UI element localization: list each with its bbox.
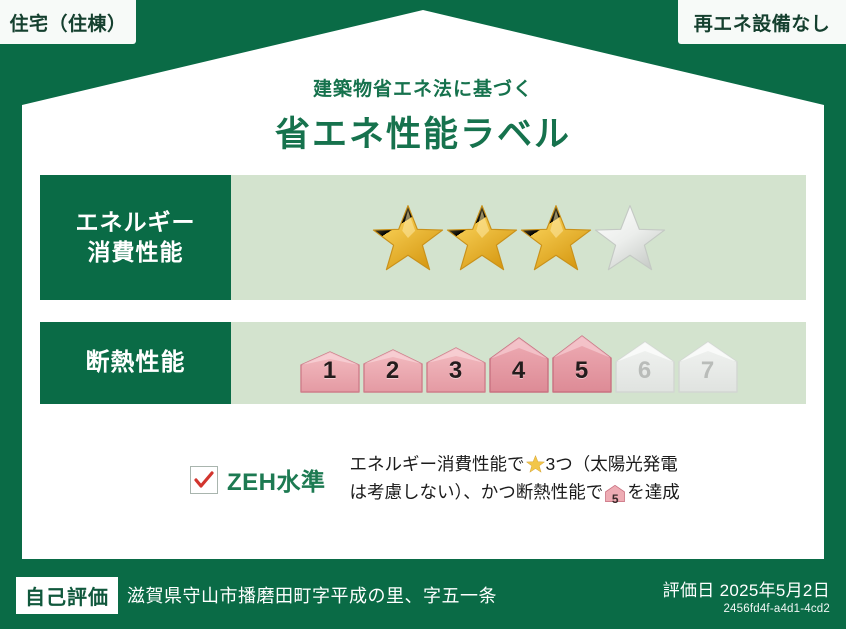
- zeh-desc-part4: を達成: [627, 482, 680, 502]
- insulation-grade-item: 4: [489, 337, 549, 393]
- zeh-section: ZEH水準 エネルギー消費性能で3つ（太陽光発電は考慮しない）、かつ断熱性能で5…: [40, 450, 806, 511]
- row-insulation-value: 1 2 3: [231, 322, 806, 404]
- row-energy-label-line2: 消費性能: [88, 238, 184, 267]
- zeh-checkbox[interactable]: [190, 466, 218, 494]
- zeh-label: ZEH水準: [227, 462, 326, 497]
- star-rating: [372, 203, 666, 273]
- row-energy-label-line1: エネルギー: [76, 208, 196, 237]
- evaluation-id: 2456fd4f-a4d1-4cd2: [663, 603, 830, 615]
- zeh-description: エネルギー消費性能で3つ（太陽光発電は考慮しない）、かつ断熱性能で5を達成: [350, 450, 680, 511]
- property-address: 滋賀県守山市播磨田町字平成の里、字五一条: [127, 582, 497, 608]
- insulation-grade-number: 7: [678, 357, 738, 385]
- insulation-grade-number: 3: [426, 357, 486, 385]
- insulation-grade-item: 7: [678, 341, 738, 393]
- page-title: 省エネ性能ラベル: [22, 106, 824, 157]
- insulation-grade-number: 6: [615, 357, 675, 385]
- insulation-grade-scale: 1 2 3: [300, 333, 738, 393]
- zeh-desc-part1: エネルギー消費性能で: [350, 454, 525, 474]
- row-energy-label: エネルギー 消費性能: [40, 175, 231, 300]
- row-energy-value: [231, 175, 806, 300]
- zeh-desc-part3: は考慮しない）、かつ断熱性能で: [350, 482, 604, 502]
- insulation-grade-number: 5: [552, 357, 612, 385]
- badge-renewable-energy: 再エネ設備なし: [678, 0, 846, 44]
- star-filled-icon: [520, 203, 592, 273]
- footer-meta: 評価日 2025年5月2日 2456fd4f-a4d1-4cd2: [663, 576, 830, 615]
- zeh-desc-part2: 3つ（太陽光発電: [546, 454, 678, 474]
- insulation-grade-item: 3: [426, 347, 486, 393]
- star-filled-icon: [526, 455, 545, 473]
- star-empty-icon: [594, 203, 666, 273]
- insulation-grade-item: 2: [363, 349, 423, 393]
- energy-label-root: 住宅（住棟） 再エネ設備なし 建築物省エネ法に基づく 省エネ性能ラベル エネルギ…: [0, 0, 846, 629]
- star-filled-icon: [372, 203, 444, 273]
- zeh-status: ZEH水準: [190, 462, 326, 497]
- label-content: 建築物省エネ法に基づく 省エネ性能ラベル エネルギー 消費性能: [22, 10, 824, 559]
- page-subtitle: 建築物省エネ法に基づく: [22, 74, 824, 101]
- row-insulation-performance: 断熱性能 1: [40, 322, 806, 404]
- footer: 自己評価 滋賀県守山市播磨田町字平成の里、字五一条 評価日 2025年5月2日 …: [0, 561, 846, 629]
- badge-building-type: 住宅（住棟）: [0, 0, 136, 44]
- zeh-desc-house-number: 5: [605, 490, 625, 509]
- check-icon: [194, 471, 214, 489]
- star-filled-icon: [446, 203, 518, 273]
- evaluation-date: 評価日 2025年5月2日: [663, 576, 830, 601]
- insulation-grade-number: 4: [489, 357, 549, 385]
- row-energy-performance: エネルギー 消費性能: [40, 175, 806, 300]
- house-icon: 5: [605, 482, 625, 510]
- row-insulation-label: 断熱性能: [40, 322, 231, 404]
- insulation-grade-number: 2: [363, 357, 423, 385]
- insulation-grade-item: 5: [552, 335, 612, 393]
- self-evaluation-badge: 自己評価: [16, 577, 118, 614]
- insulation-grade-item: 6: [615, 341, 675, 393]
- insulation-grade-number: 1: [300, 357, 360, 385]
- insulation-grade-item: 1: [300, 351, 360, 393]
